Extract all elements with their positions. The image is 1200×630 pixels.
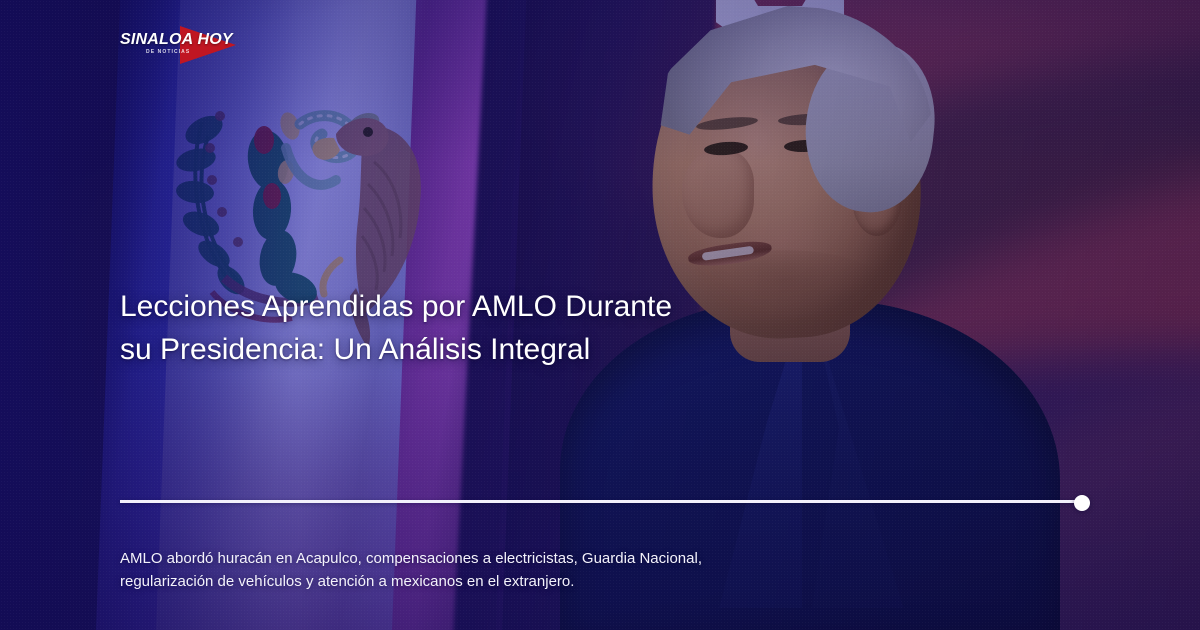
social-share-card: SINALOA HOY DE NOTICIAS Lecciones Aprend… [0,0,1200,630]
card-content: SINALOA HOY DE NOTICIAS Lecciones Aprend… [0,0,1200,630]
article-excerpt: AMLO abordó huracán en Acapulco, compens… [120,548,720,593]
logo-wordmark: SINALOA HOY [120,32,233,48]
page-title: Lecciones Aprendidas por AMLO Durante su… [120,286,680,371]
divider [120,500,1082,503]
logo-tagline: DE NOTICIAS [146,50,190,55]
site-logo[interactable]: SINALOA HOY DE NOTICIAS [120,24,240,64]
end-dot-marker[interactable] [1074,495,1090,511]
